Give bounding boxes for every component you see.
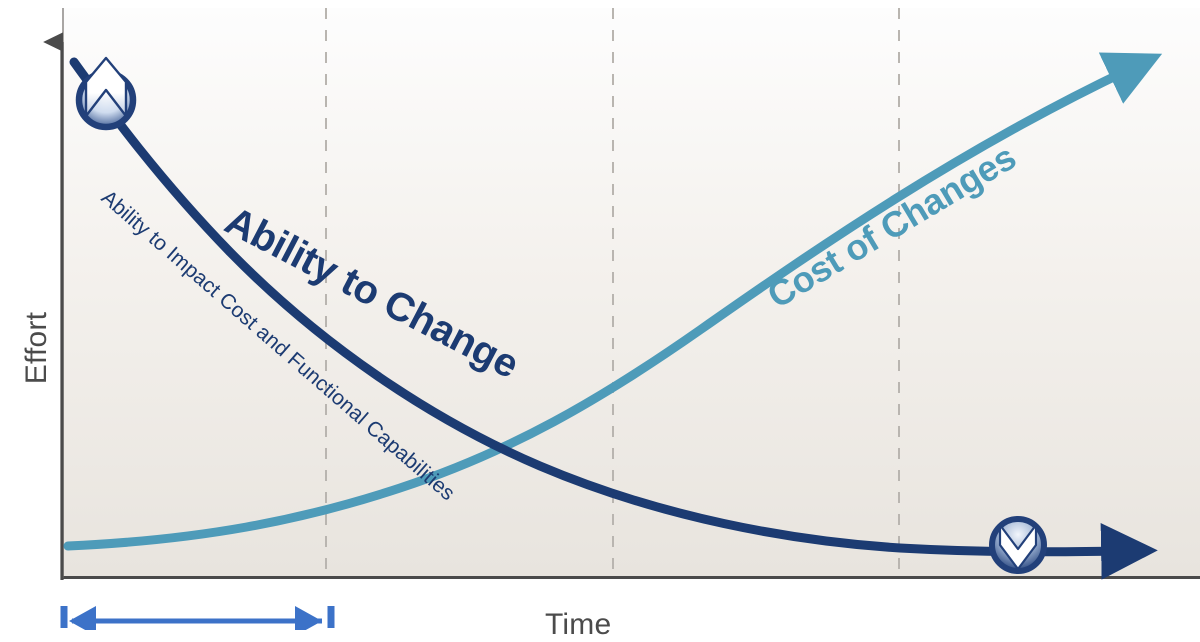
chevron-down-marker [992, 519, 1044, 571]
chart-canvas [0, 0, 1200, 630]
dimension-bar [64, 606, 331, 628]
chart-figure: Effort Time Ability to Change Cost of Ch… [0, 0, 1200, 630]
plot-area-background [62, 8, 1200, 578]
